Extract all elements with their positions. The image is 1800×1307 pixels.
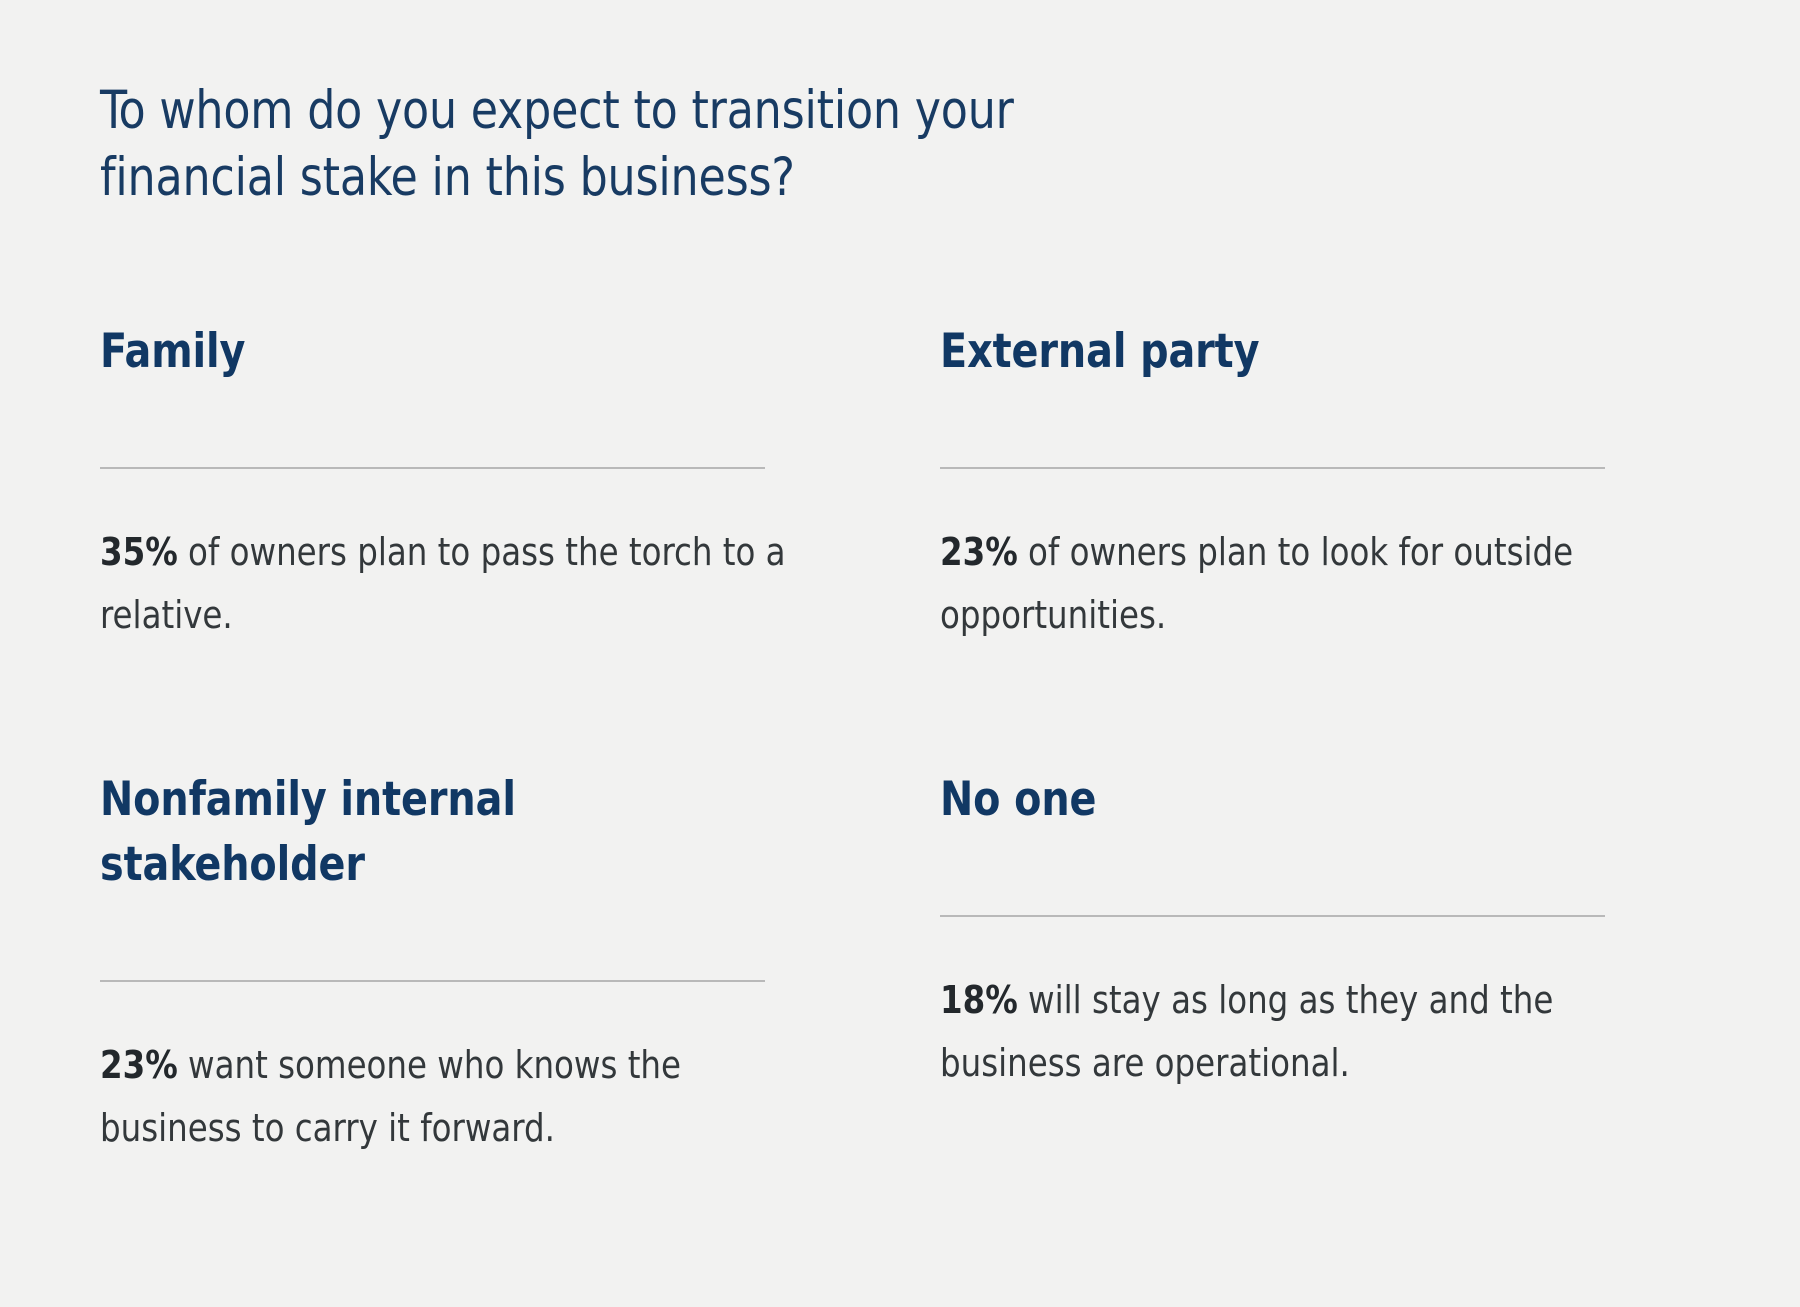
spacer [940, 917, 1670, 969]
stat-description: of owners plan to look for outside oppor… [940, 530, 1573, 637]
stat-description: want someone who knows the business to c… [100, 1043, 681, 1150]
page-title: To whom do you expect to transition your… [100, 78, 1216, 212]
stat-card-body: 18% will stay as long as they and the bu… [940, 969, 1634, 1094]
stat-description: of owners plan to pass the torch to a re… [100, 530, 786, 637]
stat-card-heading: Nonfamily internal stakeholder [100, 768, 786, 898]
spacer [100, 385, 830, 467]
stat-card-body: 35% of owners plan to pass the torch to … [100, 521, 794, 646]
spacer [100, 982, 830, 1034]
stat-card-external-party: External party 23% of owners plan to loo… [940, 320, 1670, 646]
stat-percent: 23% [940, 530, 1018, 574]
stat-percent: 35% [100, 530, 178, 574]
stat-card-no-one: No one 18% will stay as long as they and… [940, 646, 1670, 1159]
spacer [100, 898, 830, 980]
stat-card-body: 23% of owners plan to look for outside o… [940, 521, 1634, 646]
stat-card-nonfamily-internal-stakeholder: Nonfamily internal stakeholder 23% want … [100, 646, 830, 1159]
stat-card-body: 23% want someone who knows the business … [100, 1034, 794, 1159]
stat-card-grid: Family 35% of owners plan to pass the to… [100, 320, 1700, 1159]
stat-card-heading: Family [100, 320, 786, 385]
spacer [100, 469, 830, 521]
stat-card-heading: External party [940, 320, 1626, 385]
stat-description: will stay as long as they and the busine… [940, 978, 1553, 1085]
stat-card-family: Family 35% of owners plan to pass the to… [100, 320, 830, 646]
stat-card-heading: No one [940, 768, 1626, 833]
stat-percent: 18% [940, 978, 1018, 1022]
spacer [940, 646, 1670, 768]
stat-percent: 23% [100, 1043, 178, 1087]
infographic-canvas: To whom do you expect to transition your… [0, 0, 1800, 1307]
spacer [100, 646, 830, 768]
spacer [940, 833, 1670, 915]
spacer [940, 469, 1670, 521]
spacer [940, 385, 1670, 467]
